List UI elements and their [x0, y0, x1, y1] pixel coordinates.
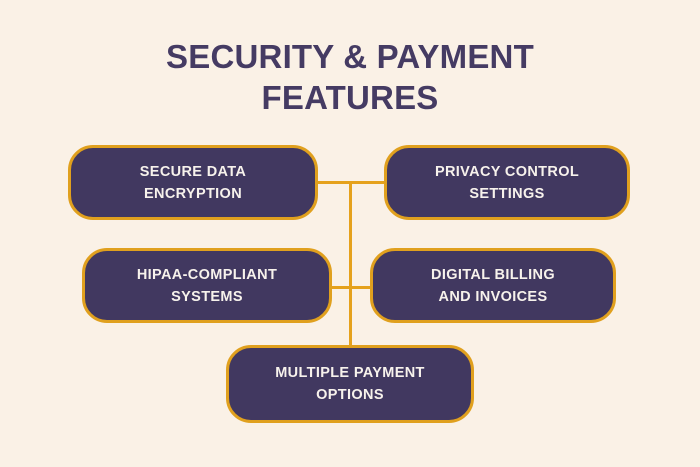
feature-box-label: MULTIPLE PAYMENT OPTIONS [261, 362, 439, 406]
feature-box-label: PRIVACY CONTROL SETTINGS [421, 161, 593, 205]
feature-box-hipaa-compliant-systems[interactable]: HIPAA-COMPLIANT SYSTEMS [82, 248, 332, 323]
feature-box-secure-data-encryption[interactable]: SECURE DATA ENCRYPTION [68, 145, 318, 220]
page-title: SECURITY & PAYMENT FEATURES [0, 36, 700, 118]
feature-box-label: HIPAA-COMPLIANT SYSTEMS [123, 264, 291, 308]
feature-box-label: SECURE DATA ENCRYPTION [126, 161, 260, 205]
connector-vertical-spine [349, 181, 352, 349]
feature-box-digital-billing-and-invoices[interactable]: DIGITAL BILLING AND INVOICES [370, 248, 616, 323]
infographic-canvas: SECURITY & PAYMENT FEATURES SECURE DATA … [0, 0, 700, 467]
feature-box-privacy-control-settings[interactable]: PRIVACY CONTROL SETTINGS [384, 145, 630, 220]
feature-box-multiple-payment-options[interactable]: MULTIPLE PAYMENT OPTIONS [226, 345, 474, 423]
feature-box-label: DIGITAL BILLING AND INVOICES [417, 264, 569, 308]
